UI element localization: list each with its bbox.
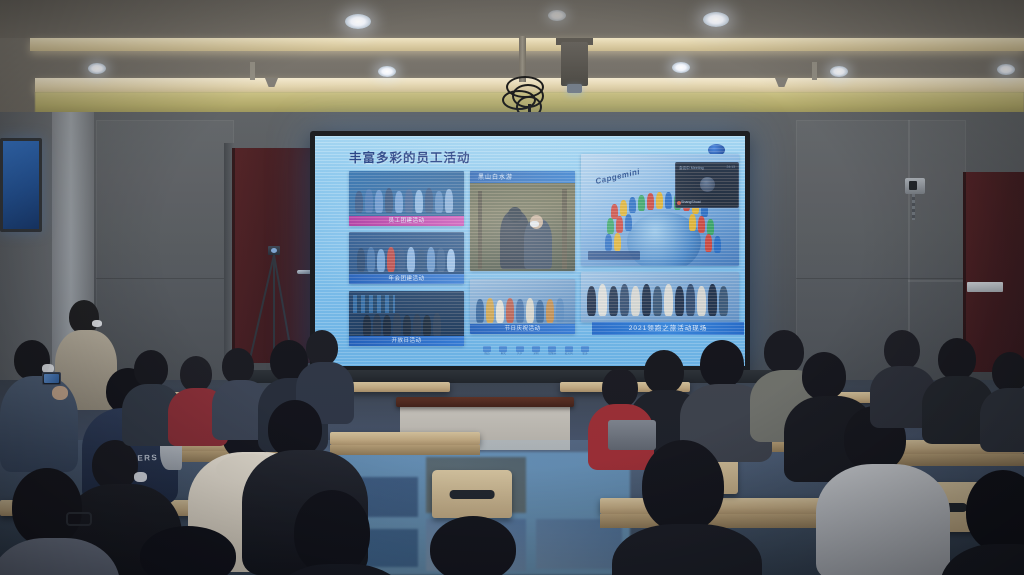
chair[interactable]	[432, 470, 512, 518]
toolbar-item-chat[interactable]: 聊天	[497, 346, 509, 356]
desk	[330, 432, 480, 445]
toolbar-label: 录制	[530, 352, 542, 356]
avatar	[700, 177, 715, 192]
tripod-camera-icon	[268, 246, 280, 255]
slide-title: 丰富多彩的员工活动	[349, 147, 471, 166]
wall-panel	[908, 120, 966, 282]
slide-photo-caption: 开放日活动	[349, 336, 464, 346]
toolbar-item-camera[interactable]: 摄像头	[546, 346, 558, 356]
chat-icon	[499, 346, 507, 352]
slide-photo-caption: 节日庆祝活动	[470, 324, 575, 334]
lecture-hall-photo: 丰富多彩的员工活动 员工团建活动 黑山白水游	[0, 0, 1024, 575]
record-icon	[532, 346, 540, 352]
door-left[interactable]	[232, 148, 311, 363]
toolbar-label: 聊天	[497, 352, 509, 356]
ceiling-cove-band-upper	[30, 38, 1024, 51]
ceiling-downlight	[378, 66, 396, 77]
ceiling-hanger	[250, 62, 255, 80]
slide-photo-caption: 员工团建活动	[349, 216, 464, 226]
ceiling-downlight	[548, 10, 566, 21]
slide-photo-caption: 黑山白水游	[478, 172, 513, 181]
camera-cable	[912, 194, 915, 220]
ceiling-upper-plane	[0, 0, 1024, 38]
toolbar-item-share[interactable]: 共享	[514, 346, 526, 356]
lectern-top	[396, 397, 574, 407]
toolbar-label: 共享	[514, 352, 526, 356]
toolbar-item-record[interactable]: 录制	[530, 346, 542, 356]
slide-photo	[581, 272, 739, 322]
share-icon	[516, 346, 524, 352]
video-call-participant: ShangShuai	[681, 200, 701, 204]
wall-seam	[796, 278, 964, 279]
smartphone-icon	[42, 372, 61, 385]
wall-seam	[96, 278, 232, 279]
toolbar-item-more[interactable]: 更多	[579, 346, 591, 356]
toolbar-label: 更多	[579, 352, 591, 356]
projector-lens-icon	[567, 84, 582, 93]
mic-icon	[565, 346, 573, 352]
wall-signage-plate	[967, 282, 1003, 292]
backpack	[608, 420, 656, 450]
ceiling-downlight	[997, 64, 1015, 75]
camera-icon	[548, 346, 556, 352]
desk-front-panel	[330, 445, 480, 455]
video-call-overlay[interactable]: 会议中 Meeting 24:13 ShangShuai	[675, 162, 739, 208]
ceiling-downlight	[345, 14, 371, 29]
ceiling-hanger	[812, 62, 817, 80]
wall-mounted-monitor[interactable]	[0, 138, 42, 232]
slide-photo: 节日庆祝活动	[470, 279, 575, 334]
slide-photo: 年会团建活动	[349, 232, 464, 284]
security-camera-icon	[905, 178, 925, 194]
slide-photo: 开放日活动	[349, 291, 464, 346]
video-call-timer: 24:13	[727, 165, 736, 169]
meeting-toolbar[interactable]: 成员 聊天 共享 录制 摄像头 麦克风	[481, 343, 591, 359]
glasses-icon	[66, 512, 92, 526]
projector-icon	[561, 42, 588, 86]
slide-photo: 员工团建活动	[349, 171, 464, 226]
ceiling-downlight	[88, 63, 106, 74]
toolbar-item-person[interactable]: 成员	[481, 346, 493, 356]
toolbar-label: 成员	[481, 352, 493, 356]
more-icon	[581, 346, 589, 352]
ceiling-downlight	[672, 62, 690, 73]
slide-photo: 黑山白水游	[470, 171, 575, 271]
ceiling-downlight	[703, 12, 729, 27]
ceiling-downlight	[830, 66, 848, 77]
person-icon	[483, 346, 491, 352]
door-right[interactable]	[963, 172, 1024, 372]
toolbar-item-mic[interactable]: 麦克风	[563, 346, 575, 356]
slide-banner-caption: 2021领跑之旅活动现场	[592, 322, 744, 335]
projection-screen[interactable]: 丰富多彩的员工活动 员工团建活动 黑山白水游	[315, 136, 745, 366]
toolbar-label: 麦克风	[563, 352, 575, 356]
slide-photo-caption: 年会团建活动	[349, 274, 464, 284]
toolbar-label: 摄像头	[546, 352, 558, 356]
